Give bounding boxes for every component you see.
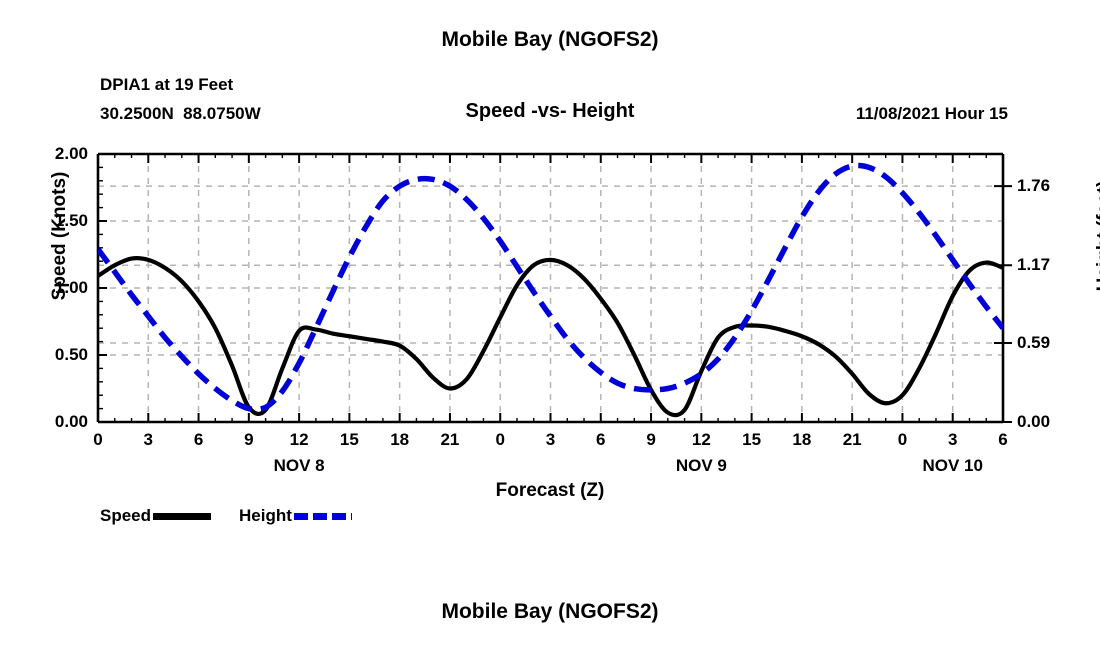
x-axis-tick-label: 0: [882, 430, 922, 450]
legend-label-speed: Speed: [100, 506, 151, 526]
x-axis-tick-label: 6: [179, 430, 219, 450]
legend-swatch-height-icon: [294, 513, 352, 520]
x-axis-tick-label: 9: [631, 430, 671, 450]
x-axis-tick-label: 21: [430, 430, 470, 450]
x-axis-tick-label: 0: [78, 430, 118, 450]
legend-swatch-speed-icon: [153, 513, 211, 520]
legend-label-height: Height: [239, 506, 292, 526]
legend-item-speed: Speed: [100, 506, 211, 526]
x-axis-tick-label: 3: [531, 430, 571, 450]
y-axis-tick-label-left: 0.50: [28, 345, 88, 365]
y-axis-tick-label-left: 1.00: [28, 278, 88, 298]
y-axis-tick-label-left: 2.00: [28, 144, 88, 164]
x-axis-tick-label: 6: [581, 430, 621, 450]
y-axis-tick-label-right: 0.59: [1017, 333, 1077, 353]
x-axis-day-label: NOV 9: [631, 456, 771, 476]
x-axis-tick-label: 0: [480, 430, 520, 450]
y-axis-tick-label-left: 1.50: [28, 211, 88, 231]
x-axis-tick-label: 15: [732, 430, 772, 450]
x-axis-tick-label: 9: [229, 430, 269, 450]
y-axis-tick-label-left: 0.00: [28, 412, 88, 432]
y-axis-tick-label-right: 1.17: [1017, 255, 1077, 275]
footer-title: Mobile Bay (NGOFS2): [0, 600, 1100, 624]
x-axis-tick-label: 18: [782, 430, 822, 450]
x-axis-tick-label: 12: [279, 430, 319, 450]
chart-legend: Speed Height: [100, 506, 352, 526]
x-axis-tick-label: 15: [329, 430, 369, 450]
y-axis-tick-label-right: 1.76: [1017, 176, 1077, 196]
x-axis-day-label: NOV 10: [883, 456, 1023, 476]
x-axis-tick-label: 3: [128, 430, 168, 450]
x-axis-tick-label: 12: [681, 430, 721, 450]
x-axis-tick-label: 3: [933, 430, 973, 450]
chart-page: Mobile Bay (NGOFS2) DPIA1 at 19 Feet 30.…: [0, 0, 1100, 650]
x-axis-tick-label: 18: [380, 430, 420, 450]
legend-item-height: Height: [239, 506, 352, 526]
y-axis-tick-label-right: 0.00: [1017, 412, 1077, 432]
x-axis-tick-label: 6: [983, 430, 1023, 450]
x-axis-day-label: NOV 8: [229, 456, 369, 476]
chart-plot-area: [0, 0, 1100, 650]
x-axis-tick-label: 21: [832, 430, 872, 450]
